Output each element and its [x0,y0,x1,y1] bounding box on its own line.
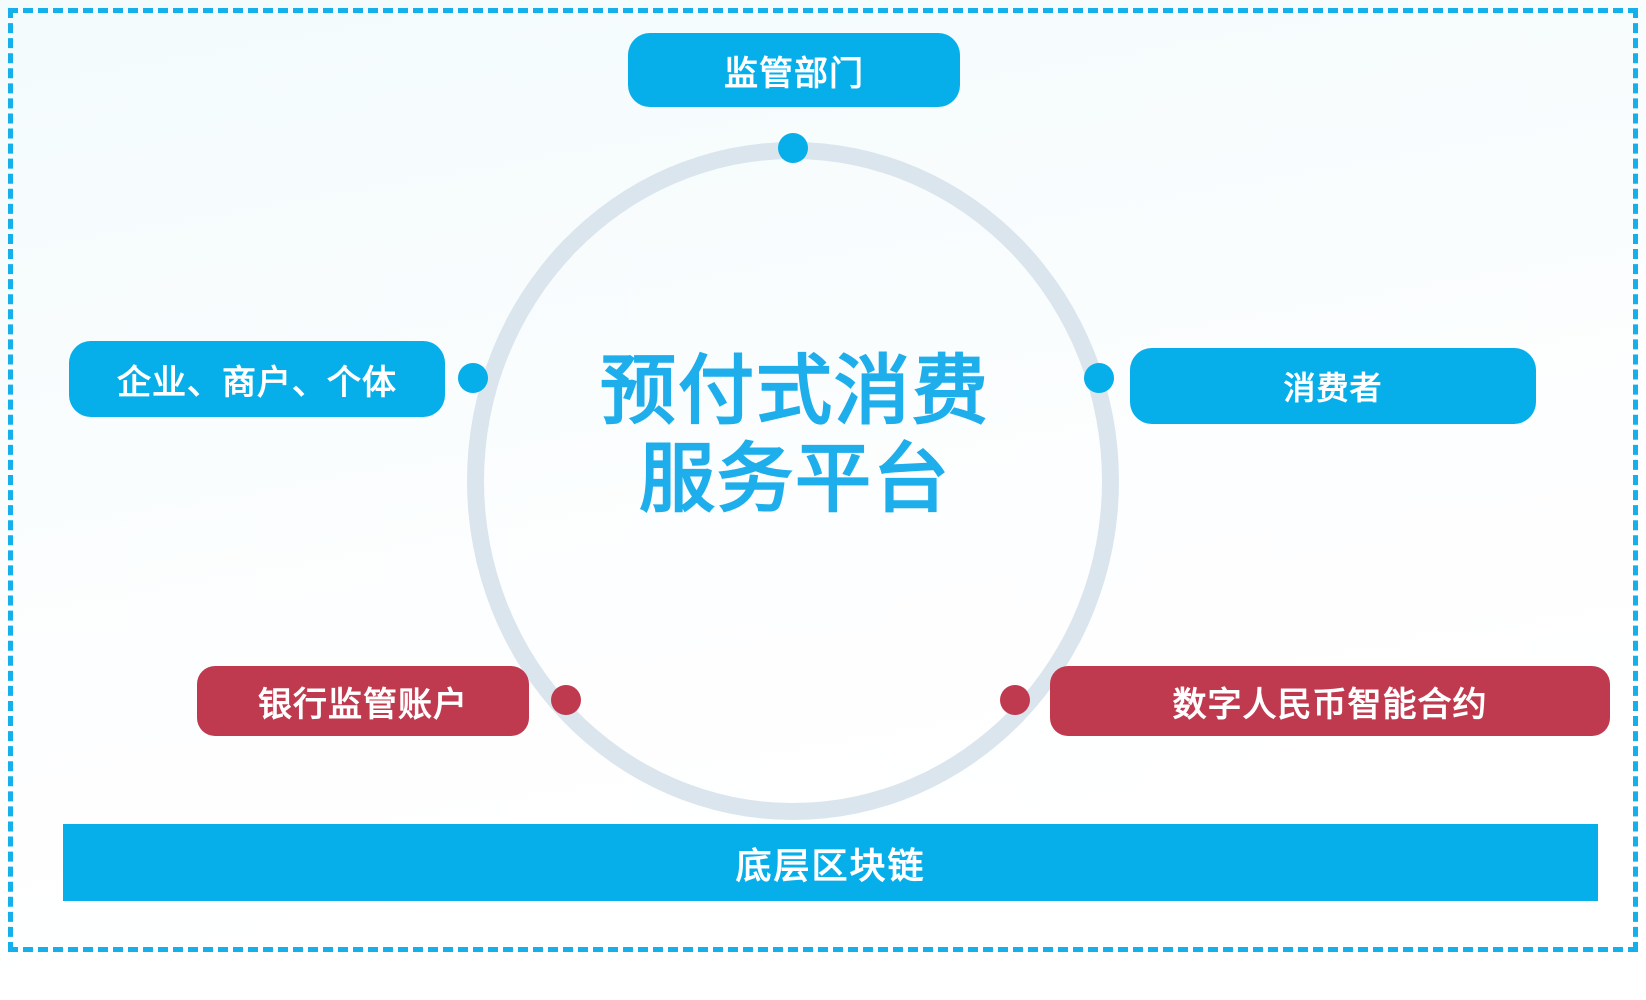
connector-dot-bottom-right [1000,685,1030,715]
node-bank-supervision-account[interactable]: 银行监管账户 [197,666,529,736]
connector-dot-top [778,133,808,163]
center-platform-title: 预付式消费 服务平台 [560,348,1030,524]
node-consumer[interactable]: 消费者 [1130,348,1536,424]
foundation-blockchain-bar[interactable]: 底层区块链 [63,824,1598,901]
node-enterprise-merchant-individual[interactable]: 企业、商户、个体 [69,341,445,417]
center-title-line-1: 预付式消费 [560,348,1030,436]
center-title-line-2: 服务平台 [560,436,1030,524]
connector-dot-right [1084,363,1114,393]
connector-dot-left [458,363,488,393]
diagram-canvas: 预付式消费 服务平台 监管部门 企业、商户、个体 消费者 银行监管账户 数字人民… [0,0,1646,1000]
node-regulator[interactable]: 监管部门 [628,33,960,107]
connector-dot-bottom-left [551,685,581,715]
node-digital-rmb-smart-contract[interactable]: 数字人民币智能合约 [1050,666,1610,736]
